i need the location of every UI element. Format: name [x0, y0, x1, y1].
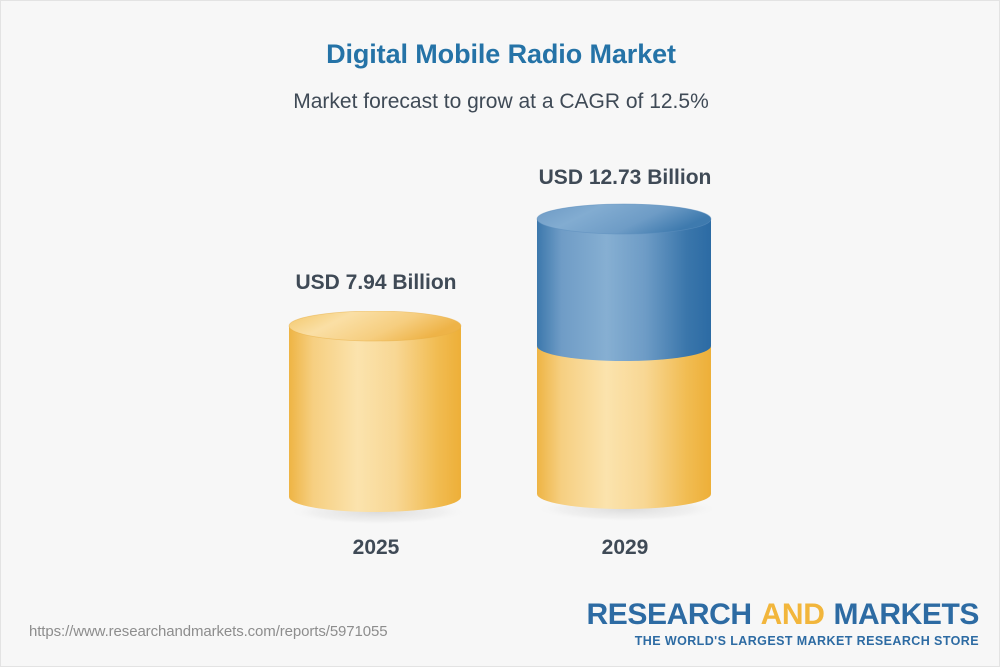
- chart-subtitle: Market forecast to grow at a CAGR of 12.…: [1, 90, 1000, 114]
- bar-category-label-2029: 2029: [534, 536, 716, 560]
- cylinder-bar-2025: [286, 311, 466, 526]
- chart-plot-area: USD 7.94 Billion: [1, 131, 1000, 571]
- source-url[interactable]: https://www.researchandmarkets.com/repor…: [29, 623, 388, 640]
- bar-group-2025: USD 7.94 Billion: [286, 131, 466, 541]
- logo-wordmark: RESEARCHANDMARKETS: [587, 599, 979, 631]
- research-and-markets-logo[interactable]: RESEARCHANDMARKETS THE WORLD'S LARGEST M…: [587, 599, 979, 648]
- bar-group-2029: USD 12.73 Billion: [534, 131, 716, 541]
- bar-value-label-2025: USD 7.94 Billion: [286, 271, 466, 295]
- logo-tagline: THE WORLD'S LARGEST MARKET RESEARCH STOR…: [587, 634, 979, 648]
- cylinder-bar-2029: [534, 203, 716, 523]
- bar-value-label-2029: USD 12.73 Billion: [534, 166, 716, 190]
- chart-page: Digital Mobile Radio Market Market forec…: [0, 0, 1000, 667]
- logo-word-and: AND: [761, 598, 825, 631]
- logo-word-markets: MARKETS: [833, 598, 979, 631]
- logo-word-research: RESEARCH: [587, 598, 752, 631]
- page-title: Digital Mobile Radio Market: [1, 39, 1000, 70]
- bar-category-label-2025: 2025: [286, 536, 466, 560]
